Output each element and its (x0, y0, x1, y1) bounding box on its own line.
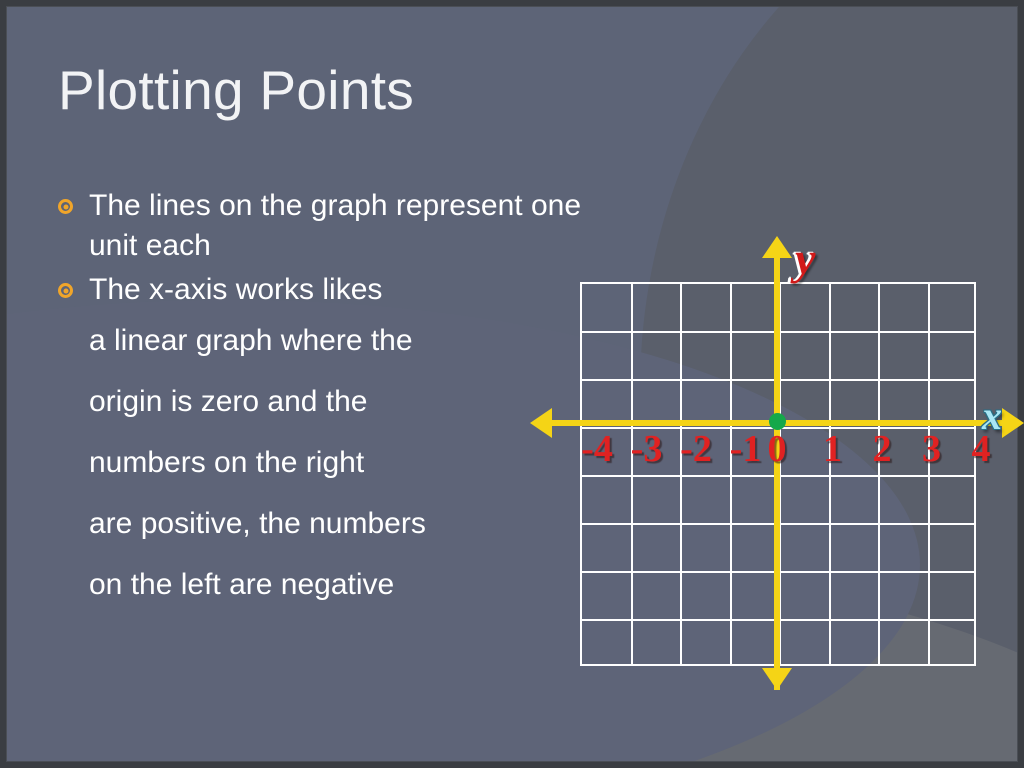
bullet-line: are positive, the numbers (89, 493, 426, 554)
x-tick-label: 3 (922, 429, 941, 469)
x-tick-label: 4 (972, 429, 991, 469)
bullet-line: a linear graph where the (89, 310, 426, 371)
coordinate-plane-graphic: y x -4-3-2-101234 (530, 236, 1024, 706)
y-axis-down-arrow-icon (762, 668, 792, 690)
bullet-line: The lines on the graph represent one (89, 189, 581, 222)
x-tick-label: -3 (631, 429, 663, 469)
bullet-line: numbers on the right (89, 432, 426, 493)
x-tick-label: -4 (581, 429, 613, 469)
bullet-line: origin is zero and the (89, 371, 426, 432)
x-tick-label: -1 (730, 429, 762, 469)
x-tick-label: 0 (768, 429, 787, 469)
x-tick-label: -2 (680, 429, 712, 469)
bullet-target-icon (58, 199, 73, 214)
x-axis-tick-labels: -4-3-2-101234 (530, 429, 1024, 475)
y-axis-label: y (795, 236, 815, 282)
page-title: Plotting Points (58, 58, 414, 122)
slide: Plotting Points The lines on the graph r… (0, 0, 1024, 768)
bullet-line: on the left are negative (89, 554, 426, 615)
bullet-target-icon (58, 283, 73, 298)
y-axis-up-arrow-icon (762, 236, 792, 258)
bullet-item-text: The lines on the graph represent one uni… (89, 186, 581, 266)
bullet-line: unit each (89, 229, 211, 262)
bullet-item-text: The x-axis works likes a linear graph wh… (89, 270, 426, 615)
bullet-line: The x-axis works likes (89, 273, 382, 306)
x-tick-label: 1 (823, 429, 842, 469)
x-tick-label: 2 (873, 429, 892, 469)
